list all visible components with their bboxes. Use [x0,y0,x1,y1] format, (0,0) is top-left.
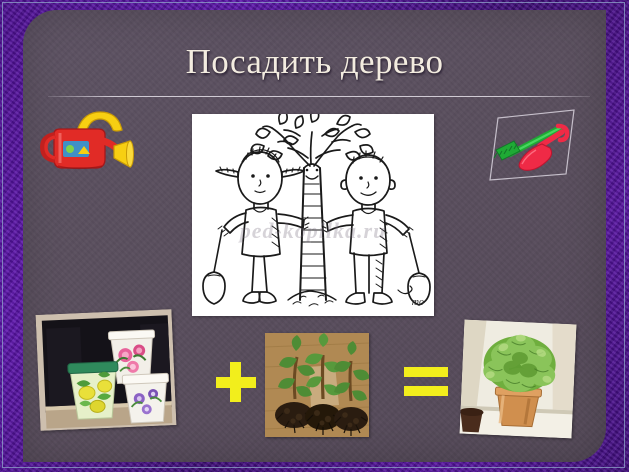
artist-signature: mo [412,297,424,308]
garden-tools-image [484,108,580,184]
seedlings-photo [265,333,369,437]
watering-can-image [36,104,134,178]
potted-plant-image [460,320,577,439]
plus-vertical-bar [230,362,241,402]
rake-and-trowel-icon [484,108,580,184]
slide: Посадить дерево [0,0,629,472]
watering-can-icon [36,104,134,178]
equals-bottom-bar [404,386,448,396]
equals-sign [404,364,448,400]
equals-top-bar [404,367,448,377]
title-divider [48,96,590,97]
seedlings-image [265,333,369,437]
potted-plant-photo [460,320,577,439]
plus-sign [212,358,260,406]
page-title: Посадить дерево [23,42,606,82]
flower-pots-photo [36,309,177,431]
illustration-card: ped-kopilka.ru mo [192,114,434,316]
children-planting-tree-drawing [192,114,434,316]
flower-pots-image [36,309,177,431]
